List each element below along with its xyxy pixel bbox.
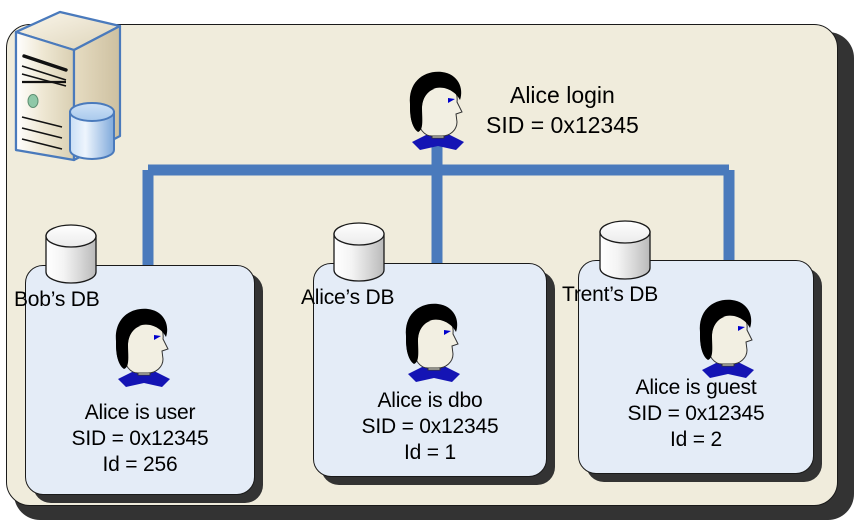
trents-db-sid: SID = 0x12345 [578, 401, 814, 427]
trents-db-label: Trent’s DB [562, 283, 658, 307]
trents-db-cylinder-icon [594, 218, 658, 291]
login-person-icon [398, 68, 478, 163]
login-caption: Alice login SID = 0x12345 [486, 80, 639, 140]
alices-db-id: Id = 1 [313, 440, 547, 466]
trents-db-role: Alice is guest [578, 375, 814, 401]
alices-db-sid: SID = 0x12345 [313, 414, 547, 440]
bobs-db-sid: SID = 0x12345 [25, 426, 255, 452]
alices-db-text: Alice is dbo SID = 0x12345 Id = 1 [313, 388, 547, 466]
server-database-cylinder-icon [70, 103, 114, 159]
diagram-canvas: Alice login SID = 0x12345 Bob’s DB [0, 0, 864, 529]
trents-db-id: Id = 2 [578, 427, 814, 453]
bobs-db-text: Alice is user SID = 0x12345 Id = 256 [25, 400, 255, 478]
alices-db-person-icon [394, 300, 474, 395]
login-title: Alice login [486, 80, 639, 110]
bobs-db-role: Alice is user [25, 400, 255, 426]
alices-db-role: Alice is dbo [313, 388, 547, 414]
login-sid: SID = 0x12345 [486, 110, 639, 140]
trents-db-text: Alice is guest SID = 0x12345 Id = 2 [578, 375, 814, 453]
alices-db-label: Alice’s DB [301, 286, 394, 310]
bobs-db-cylinder-icon [40, 222, 104, 295]
alices-db-cylinder-icon [328, 220, 392, 293]
bobs-db-person-icon [104, 305, 184, 400]
server-tower-icon [2, 4, 132, 169]
bobs-db-id: Id = 256 [25, 452, 255, 478]
bobs-db-label: Bob’s DB [14, 288, 100, 312]
